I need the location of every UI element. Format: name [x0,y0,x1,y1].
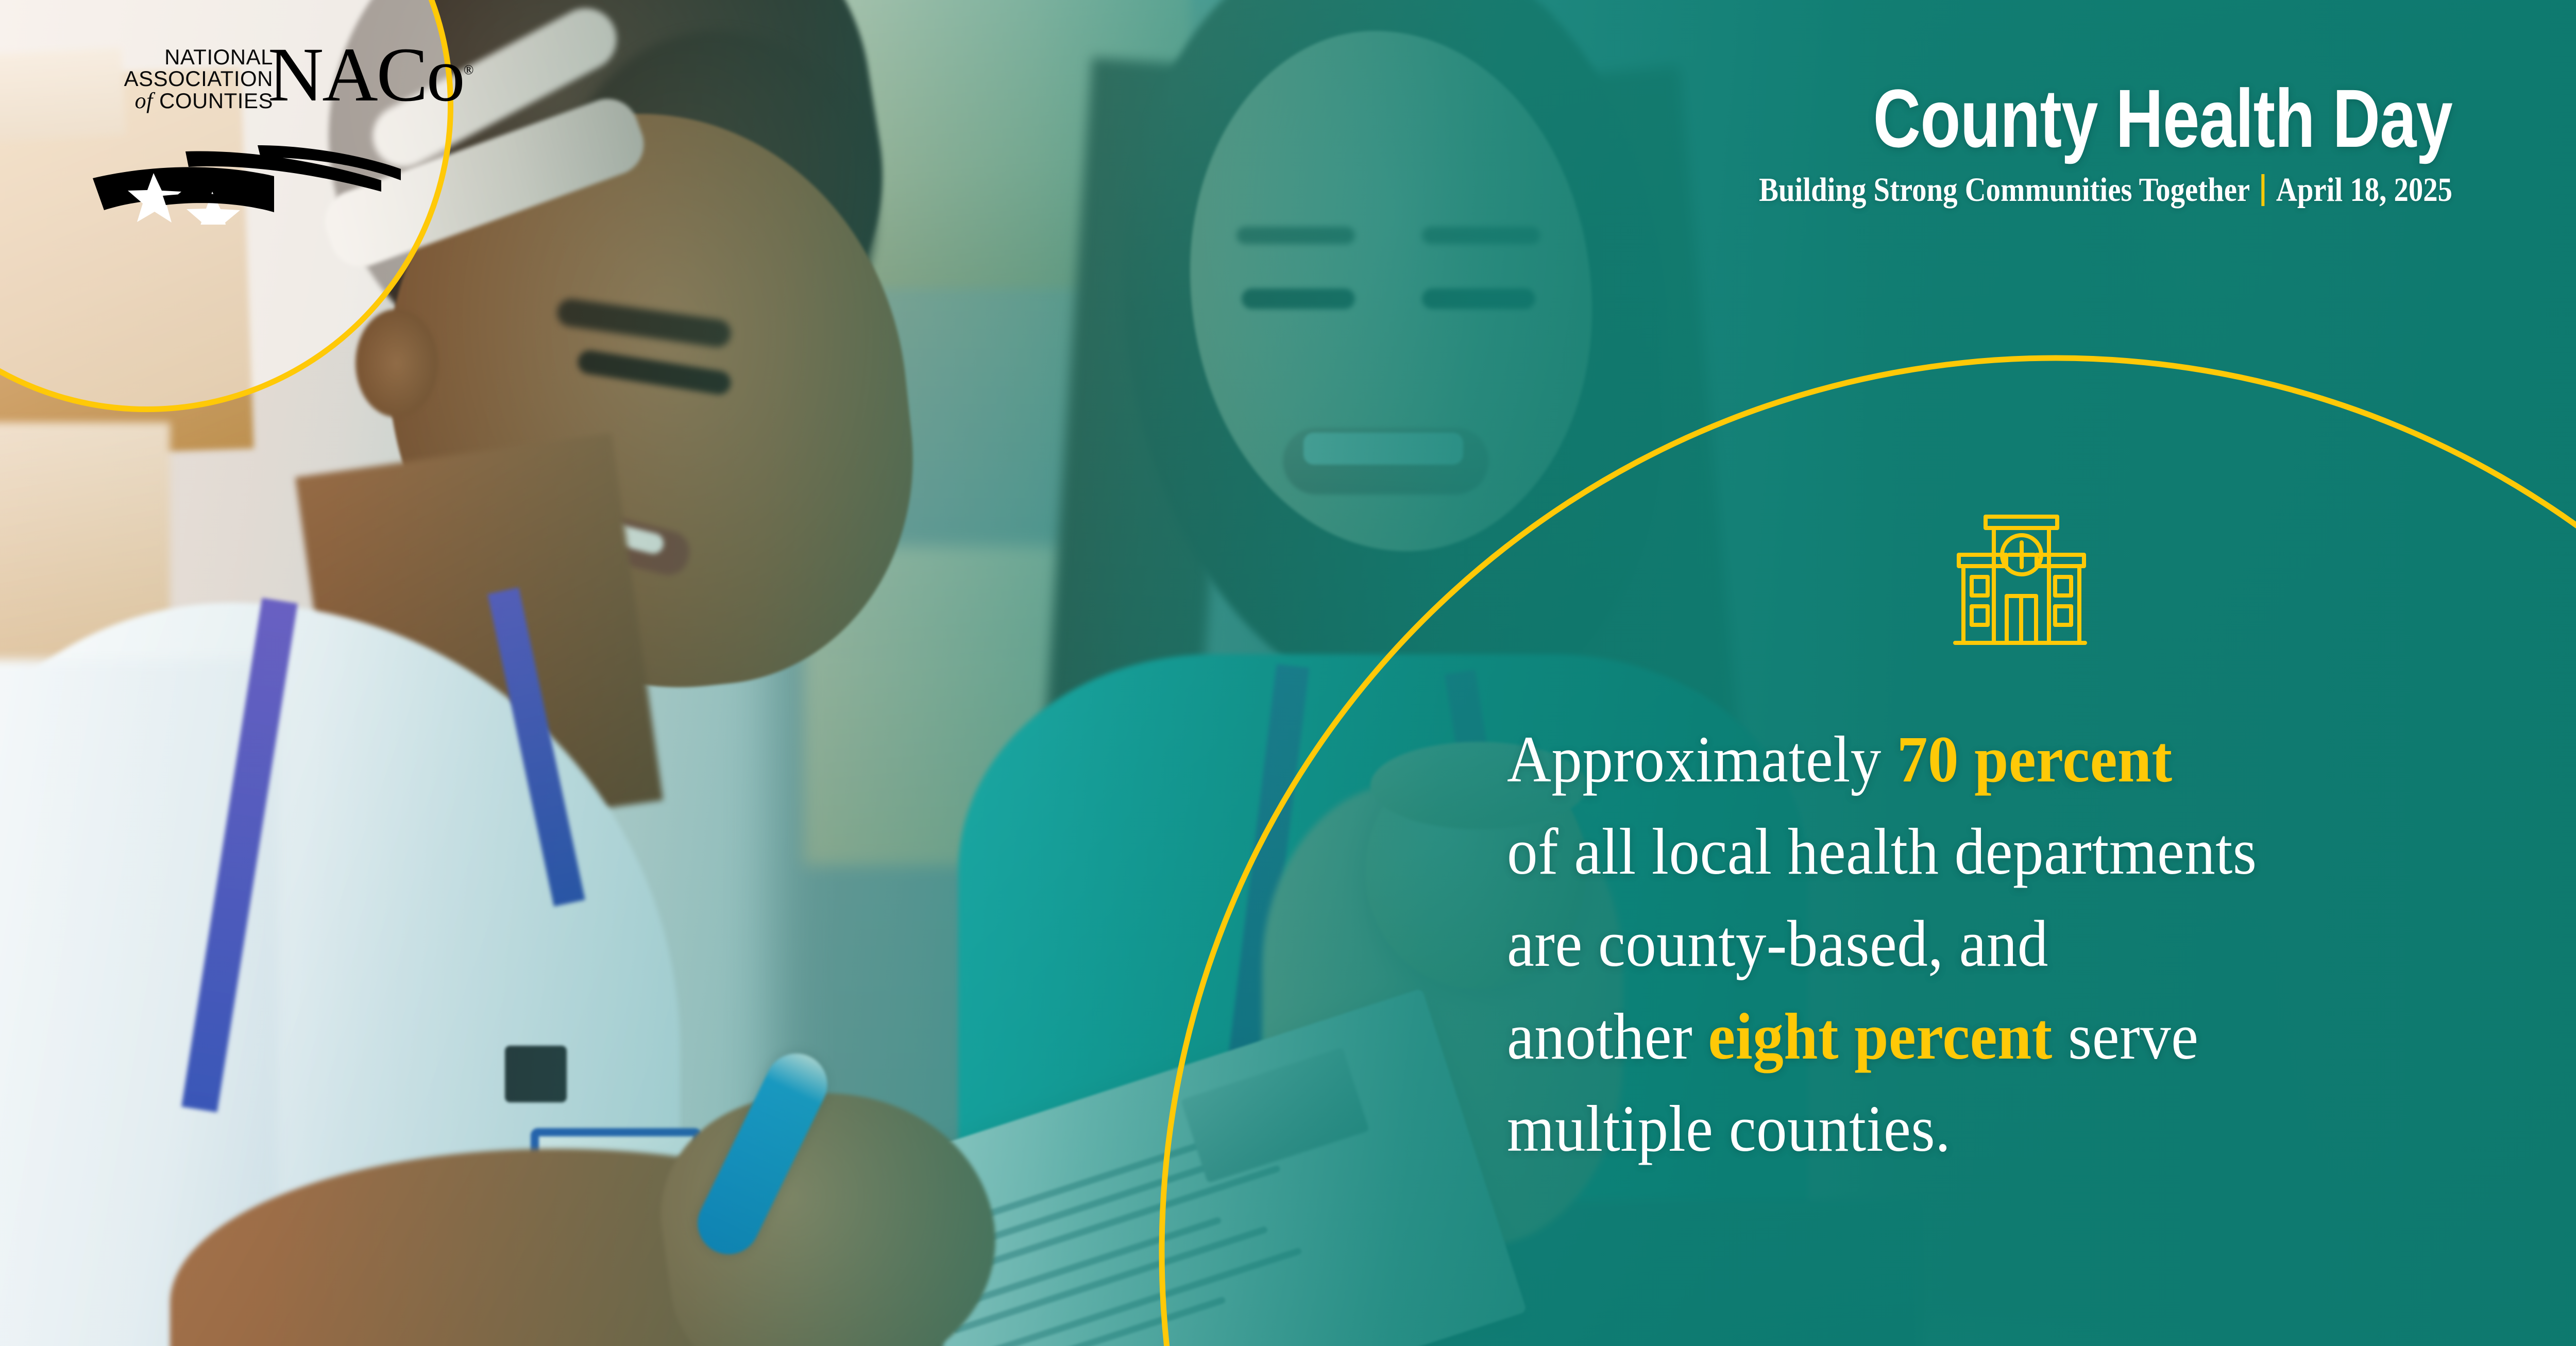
naco-logo-wordmark: NATIONAL ASSOCIATION of COUNTIES [52,46,273,112]
statistic-line-4: another eight percent serve [1507,991,2446,1083]
statistic-highlight-eight: eight percent [1708,1000,2052,1073]
naco-flag-swoosh-icon [72,142,402,225]
naco-logo-mark: NACo® [268,36,472,113]
statistic-line-5: multiple counties. [1507,1083,2446,1175]
hospital-building-icon [1935,492,2094,646]
naco-logo-line-national: NATIONAL [52,46,273,68]
statistic-line-3: are county-based, and [1507,898,2446,990]
naco-logo-line-association: ASSOCIATION [52,68,273,90]
statistic-text: Approximately 70 percent of all local he… [1507,713,2517,1175]
county-health-day-banner: NATIONAL ASSOCIATION of COUNTIES NACo® C… [0,0,2576,1346]
page-title: County Health Day [1807,77,2452,160]
subtitle-tagline: Building Strong Communities Together [1759,171,2250,209]
naco-logo-line-counties: of COUNTIES [52,90,273,112]
naco-logo: NATIONAL ASSOCIATION of COUNTIES NACo® [52,46,402,196]
naco-logo-of: of [135,88,153,113]
event-date: April 18, 2025 [2276,171,2452,209]
statistic-line-2: of all local health departments [1507,806,2446,898]
banner-header: County Health Day Building Strong Commun… [1646,77,2452,207]
subtitle-divider [2261,174,2264,206]
registered-mark-icon: ® [464,62,472,77]
statistic-highlight-70: 70 percent [1897,723,2173,796]
banner-subtitle: Building Strong Communities TogetherApri… [1759,173,2452,207]
statistic-line-1: Approximately 70 percent [1507,713,2446,806]
